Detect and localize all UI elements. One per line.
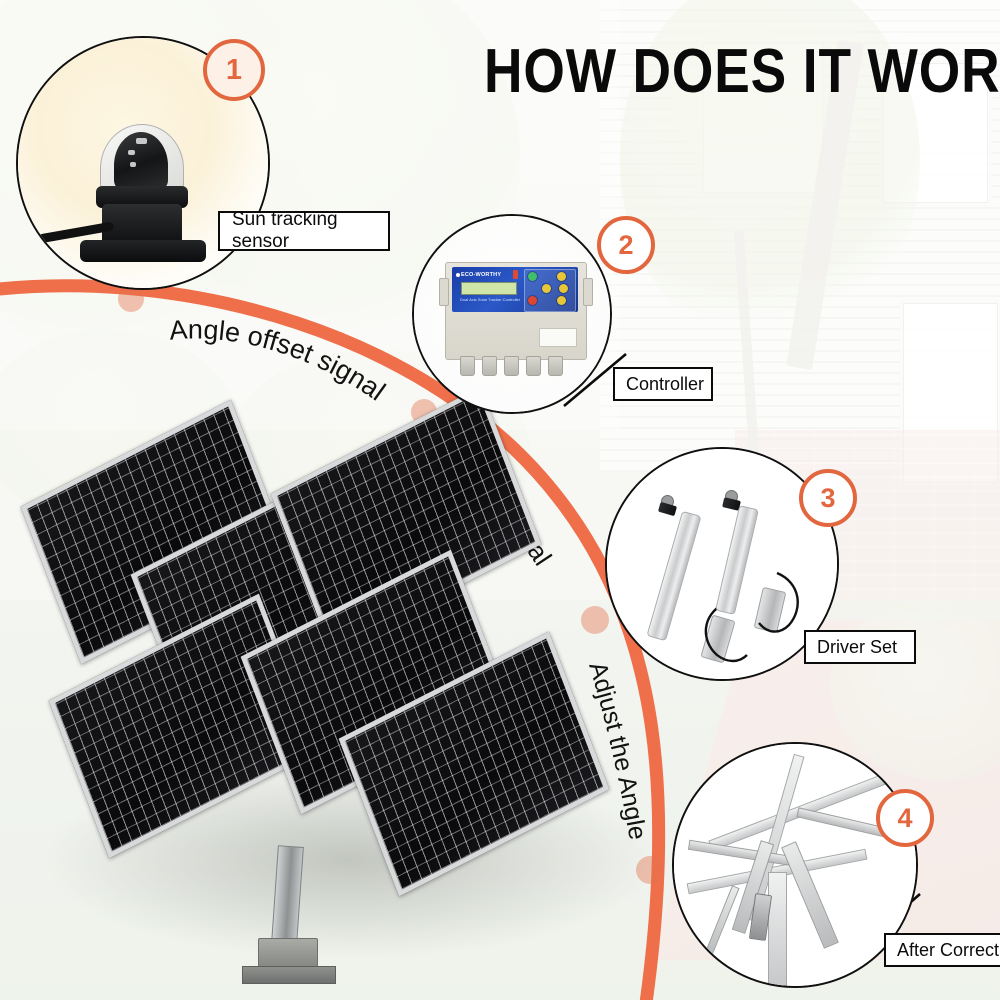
sensor-photocell-b xyxy=(128,150,135,155)
controller-brand-dot xyxy=(456,273,460,277)
callout-2-number: 2 xyxy=(618,230,633,261)
controller-power-led xyxy=(513,270,518,279)
solar-array xyxy=(20,430,560,970)
controller-cable-gland-3 xyxy=(504,356,519,376)
controller-mount-ear-left xyxy=(439,278,449,306)
controller-yellow-button-center[interactable] xyxy=(542,284,551,293)
page-title: HOW DOES IT WORK xyxy=(484,36,1000,107)
controller-sticker xyxy=(539,328,577,347)
callout-2-badge: 2 xyxy=(597,216,655,274)
controller-cable-gland-5 xyxy=(548,356,563,376)
controller-brand-text: ECO-WORTHY xyxy=(461,272,501,278)
actuator-right-cable xyxy=(747,567,809,639)
callout-3-label-text: Driver Set xyxy=(817,637,897,658)
controller-cable-gland-4 xyxy=(526,356,541,376)
callout-3-label[interactable]: Driver Set xyxy=(804,630,916,664)
sensor-photocell-a xyxy=(136,138,147,144)
controller-cable-gland-1 xyxy=(460,356,475,376)
controller-mount-ear-right xyxy=(583,278,593,306)
controller-panel-subtitle: Dual Axis Solar Tracker Controller xyxy=(460,297,520,302)
controller-red-indicator[interactable] xyxy=(528,296,537,305)
callout-1-number: 1 xyxy=(226,54,242,87)
array-base-plate xyxy=(242,966,336,984)
controller-lcd-display xyxy=(461,282,517,295)
callout-2-image[interactable]: ECO-WORTHY Dual Axis Solar Tracker Contr… xyxy=(412,214,612,414)
callout-4-number: 4 xyxy=(897,803,912,834)
sensor-photocell-c xyxy=(130,162,136,167)
callout-1-badge: 1 xyxy=(203,39,265,101)
rack-mast xyxy=(768,872,787,988)
controller-green-indicator[interactable] xyxy=(528,272,537,281)
callout-2-label[interactable]: Controller xyxy=(613,367,713,401)
controller-cable-gland-2 xyxy=(482,356,497,376)
infographic-canvas: Angle offset signal Turn signal Adjust t… xyxy=(0,0,1000,1000)
callout-1-label[interactable]: Sun tracking sensor xyxy=(218,211,390,251)
callout-1-label-text: Sun tracking sensor xyxy=(232,209,388,253)
callout-4-image[interactable] xyxy=(672,742,918,988)
callout-3-badge: 3 xyxy=(799,469,857,527)
controller-yellow-button-bottom[interactable] xyxy=(557,296,566,305)
callout-3-number: 3 xyxy=(820,483,835,514)
sensor-mounting-foot xyxy=(80,240,206,262)
callout-4-label[interactable]: After Correction xyxy=(884,933,1000,967)
callout-2-label-text: Controller xyxy=(626,374,704,395)
controller-yellow-button-top-right[interactable] xyxy=(557,272,566,281)
callout-4-label-text: After Correction xyxy=(897,940,1000,961)
callout-4-badge: 4 xyxy=(876,789,934,847)
controller-yellow-button-right[interactable] xyxy=(559,284,568,293)
flow-label-angle-offset-signal: Angle offset signal xyxy=(168,314,391,406)
